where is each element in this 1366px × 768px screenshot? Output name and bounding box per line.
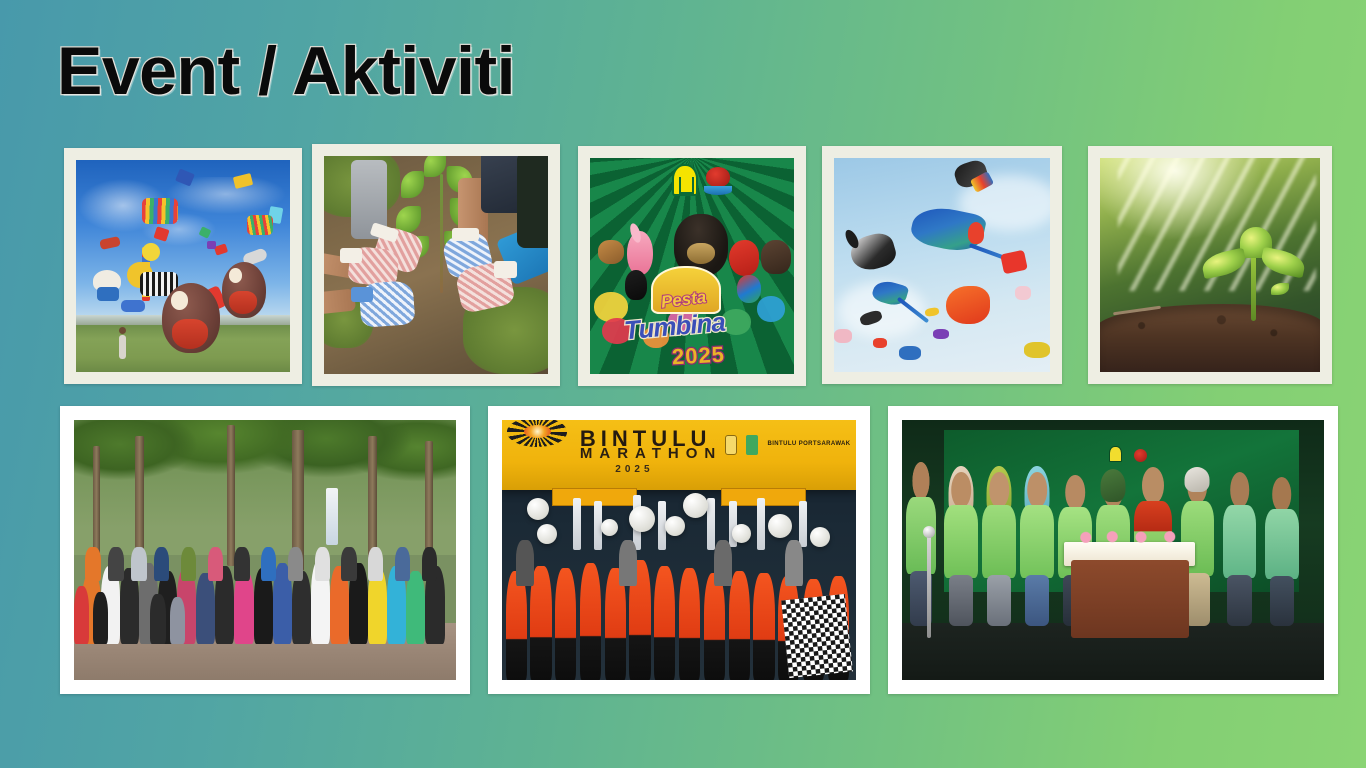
globe-emblem-icon (704, 167, 732, 195)
poster-year: 2025 (671, 341, 725, 370)
photo-tree-planting (324, 156, 548, 374)
stanchion-post (927, 534, 931, 638)
photo-frame-animal-kites[interactable] (822, 146, 1062, 384)
marathon-title-line2: MARATHON (580, 445, 722, 462)
sponsor-bintulu-port: BINTULU PORT (768, 441, 817, 447)
poster-title-line2: Tumbina (623, 306, 726, 346)
marathon-year: 2025 (615, 464, 653, 475)
photo-frame-pesta-tumbina[interactable]: Pesta Tumbina 2025 (578, 146, 806, 386)
photo-frame-kite-festival[interactable] (64, 148, 302, 384)
shield-emblem-icon (672, 164, 698, 196)
slide-canvas: Event / Aktiviti (0, 0, 1366, 768)
photo-frame-cake-cutting[interactable] (888, 406, 1338, 694)
photo-frame-tree-planting[interactable] (312, 144, 560, 386)
photo-kite-festival (76, 160, 290, 372)
backdrop-shield-emblem-icon (1109, 446, 1122, 462)
marathon-sun-logo-icon (507, 420, 567, 447)
sponsor-sarawak: SARAWAK (817, 441, 850, 447)
photo-community-run (74, 420, 456, 680)
photo-frame-community-run[interactable] (60, 406, 470, 694)
photo-pesta-tumbina-poster: Pesta Tumbina 2025 (590, 158, 794, 374)
photo-bintulu-marathon: BINTULU MARATHON 2025 BINTULU PORT SARAW… (502, 420, 856, 680)
photo-cake-cutting (902, 420, 1324, 680)
photo-frame-seedling[interactable] (1088, 146, 1332, 384)
ceremony-table (1071, 560, 1189, 638)
poster-title-group: Pesta Tumbina 2025 (602, 273, 786, 368)
photo-seedling (1100, 158, 1320, 372)
page-title: Event / Aktiviti (57, 36, 515, 107)
photo-frame-bintulu-marathon[interactable]: BINTULU MARATHON 2025 BINTULU PORT SARAW… (488, 406, 870, 694)
backdrop-globe-emblem-icon (1134, 449, 1147, 462)
photo-animal-kites (834, 158, 1050, 372)
